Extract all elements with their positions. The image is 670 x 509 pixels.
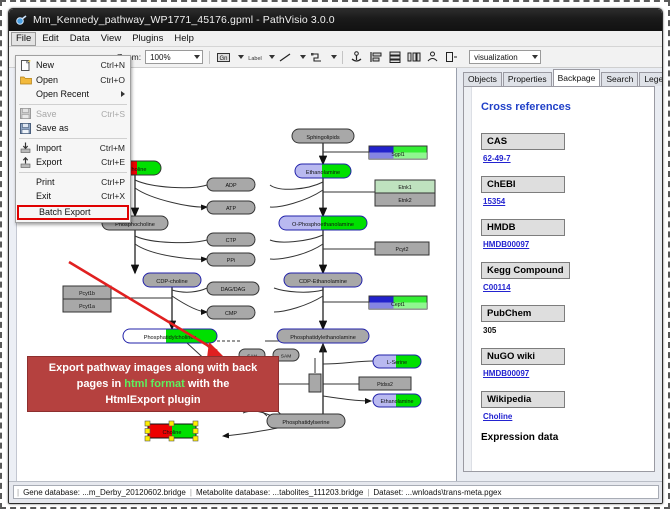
interaction-icon[interactable]	[309, 50, 324, 65]
status-bar: | Gene database: ...m_Derby_20120602.bri…	[9, 481, 663, 503]
tab-backpage[interactable]: Backpage	[553, 69, 601, 86]
svg-text:CTP: CTP	[226, 238, 237, 244]
menu-edit[interactable]: Edit	[37, 32, 63, 46]
svg-text:Pcyt2: Pcyt2	[396, 247, 409, 253]
svg-text:Ethanolamine: Ethanolamine	[306, 170, 340, 176]
tab-legend[interactable]: Legend	[639, 72, 663, 86]
menu-help[interactable]: Help	[169, 32, 199, 46]
callout-line-2-post: with the	[185, 378, 230, 390]
menu-item-label: Exit	[33, 191, 101, 201]
menu-view[interactable]: View	[96, 32, 126, 46]
callout-annotation: Export pathway images along with back pa…	[27, 356, 279, 412]
menu-item-accel: Ctrl+X	[101, 191, 130, 201]
menu-item-save: Save Ctrl+S	[16, 107, 130, 122]
svg-text:Phosphatidylserine: Phosphatidylserine	[282, 420, 329, 426]
tab-objects[interactable]: Objects	[463, 72, 502, 86]
svg-text:Choline: Choline	[163, 430, 182, 436]
menu-item-label: Open Recent	[33, 89, 121, 99]
svg-text:Pcyt1a: Pcyt1a	[79, 304, 95, 310]
svg-text:Etnk2: Etnk2	[398, 198, 411, 204]
menu-item-save-as[interactable]: Save as	[16, 121, 130, 136]
cross-references-title: Cross references	[481, 101, 647, 113]
import-icon	[18, 141, 33, 154]
svg-text:Ethanolamine: Ethanolamine	[381, 399, 414, 405]
svg-text:Ptdss2: Ptdss2	[377, 382, 393, 388]
new-document-icon	[18, 59, 33, 72]
svg-text:Cept1: Cept1	[391, 302, 405, 308]
svg-text:ATP: ATP	[226, 206, 236, 212]
xref-chebi: ChEBI 15354	[481, 174, 647, 206]
xref-label: HMDB	[481, 219, 565, 236]
order-icon[interactable]	[444, 50, 459, 65]
group-icon[interactable]	[425, 50, 440, 65]
side-panel-tabs[interactable]: Objects Properties Backpage Search Legen…	[457, 68, 663, 86]
visualization-value: visualization	[474, 53, 518, 62]
selected-node-choline: Choline	[145, 421, 198, 441]
menu-item-accel: Ctrl+O	[100, 75, 130, 85]
menu-item-exit[interactable]: Exit Ctrl+X	[16, 189, 130, 204]
menu-separator	[19, 104, 127, 105]
anchor-icon[interactable]	[349, 50, 364, 65]
xref-label: PubChem	[481, 305, 565, 322]
window-title: Mm_Kennedy_pathway_WP1771_45176.gpml - P…	[33, 14, 335, 26]
callout-line-3: HtmlExport plugin	[28, 392, 278, 408]
menu-item-label: Save as	[33, 123, 125, 133]
menu-separator	[19, 138, 127, 139]
svg-text:Phosphatidylcholines: Phosphatidylcholines	[144, 335, 197, 341]
svg-text:CMP: CMP	[225, 311, 237, 317]
menu-item-label: Export	[33, 157, 101, 167]
toolbar-separator	[209, 51, 210, 64]
xref-value: 305	[483, 326, 647, 335]
menu-item-accel: Ctrl+M	[100, 143, 130, 153]
label-dropdown-icon[interactable]	[266, 50, 274, 65]
svg-text:Phosphatidylethanolamine: Phosphatidylethanolamine	[290, 335, 356, 341]
xref-label: NuGO wiki	[481, 348, 565, 365]
status-bar-content: | Gene database: ...m_Derby_20120602.bri…	[13, 485, 659, 499]
callout-highlight: html format	[124, 378, 185, 390]
chevron-down-icon	[532, 55, 538, 59]
xref-label: ChEBI	[481, 176, 565, 193]
zoom-combobox[interactable]: 100%	[145, 50, 203, 64]
zoom-value: 100%	[150, 53, 170, 62]
menu-item-new[interactable]: New Ctrl+N	[16, 58, 130, 73]
menu-item-label: Print	[33, 177, 101, 187]
menu-item-export[interactable]: Export Ctrl+E	[16, 155, 130, 170]
svg-text:ADP: ADP	[225, 183, 236, 189]
svg-text:SAM: SAM	[281, 354, 291, 360]
submenu-arrow-icon	[121, 91, 125, 97]
status-metabolite-database: Metabolite database: ...tabolites_111203…	[192, 488, 367, 497]
svg-text:DAG/DAG: DAG/DAG	[221, 287, 246, 293]
capture-frame: Mm_Kennedy_pathway_WP1771_45176.gpml - P…	[0, 0, 670, 509]
menu-file[interactable]: File	[11, 32, 36, 46]
line-dropdown-icon[interactable]	[297, 50, 305, 65]
svg-text:PPi: PPi	[227, 258, 235, 264]
menu-item-print[interactable]: Print Ctrl+P	[16, 175, 130, 190]
status-gene-database: Gene database: ...m_Derby_20120602.bridg…	[19, 488, 190, 497]
menu-item-open-recent[interactable]: Open Recent	[16, 87, 130, 102]
svg-text:Pcyt1b: Pcyt1b	[79, 291, 95, 297]
tab-properties[interactable]: Properties	[503, 72, 552, 86]
menu-item-import[interactable]: Import Ctrl+M	[16, 141, 130, 156]
svg-text:Sphingolipids: Sphingolipids	[306, 135, 339, 141]
interaction-dropdown-icon[interactable]	[328, 50, 336, 65]
svg-text:CDP-choline: CDP-choline	[156, 279, 187, 285]
xref-link[interactable]: 62-49-7	[483, 154, 647, 163]
tab-search[interactable]: Search	[601, 72, 638, 86]
svg-text:O-Phosphoethanolamine: O-Phosphoethanolamine	[292, 222, 354, 228]
xref-link[interactable]: C00114	[483, 283, 647, 292]
callout-line-1: Export pathway images along with back	[28, 360, 278, 376]
xref-label: Kegg Compound	[481, 262, 570, 279]
backpage-content: Cross references CAS 62-49-7 ChEBI 15354…	[473, 87, 655, 471]
svg-text:CDP-Ethanolamine: CDP-Ethanolamine	[299, 279, 347, 285]
xref-kegg-compound: Kegg Compound C00114	[481, 260, 647, 292]
menu-bar[interactable]: File Edit Data View Plugins Help	[9, 31, 662, 47]
pathvisio-application-window: Mm_Kennedy_pathway_WP1771_45176.gpml - P…	[8, 8, 663, 504]
toolbar-separator	[342, 51, 343, 64]
save-disk-icon	[18, 107, 33, 120]
file-menu-dropdown[interactable]: New Ctrl+N Open Ctrl+O Open Recent Save …	[15, 55, 131, 223]
svg-text:Sgpl1: Sgpl1	[391, 152, 404, 158]
side-panel: Objects Properties Backpage Search Legen…	[457, 68, 663, 483]
menu-plugins[interactable]: Plugins	[127, 32, 168, 46]
geneproduct-dropdown-icon[interactable]	[235, 50, 243, 65]
svg-text:Phosphocholine: Phosphocholine	[115, 222, 155, 228]
geneproduct-icon[interactable]: Gn	[216, 50, 231, 65]
menu-data[interactable]: Data	[65, 32, 95, 46]
menu-item-label: Open	[33, 75, 100, 85]
chevron-down-icon	[194, 55, 200, 59]
menu-item-batch-export[interactable]: Batch Export	[17, 205, 129, 220]
svg-text:Label: Label	[248, 56, 261, 62]
xref-nugo-wiki: NuGO wiki HMDB00097	[481, 346, 647, 378]
svg-text:Etnk1: Etnk1	[398, 185, 411, 191]
export-icon	[18, 156, 33, 169]
menu-item-label: Save	[33, 109, 101, 119]
distribute-icon[interactable]	[406, 50, 421, 65]
xref-link[interactable]: Choline	[483, 412, 647, 421]
menu-item-label: New	[33, 60, 101, 70]
menu-item-accel: Ctrl+S	[101, 109, 130, 119]
xref-label: CAS	[481, 133, 565, 150]
callout-line-2: pages in html format with the	[28, 376, 278, 392]
xref-cas: CAS 62-49-7	[481, 131, 647, 163]
menu-item-accel: Ctrl+N	[101, 60, 130, 70]
open-folder-icon	[18, 73, 33, 86]
menu-item-accel: Ctrl+E	[101, 157, 130, 167]
backpage-panel: Cross references CAS 62-49-7 ChEBI 15354…	[463, 86, 655, 472]
xref-hmdb: HMDB HMDB00097	[481, 217, 647, 249]
menu-item-label: Import	[33, 143, 100, 153]
menu-item-open[interactable]: Open Ctrl+O	[16, 73, 130, 88]
svg-text:L-Serine: L-Serine	[387, 360, 407, 366]
svg-text:Gn: Gn	[220, 56, 228, 62]
xref-label: Wikipedia	[481, 391, 565, 408]
xref-link[interactable]: HMDB00097	[483, 369, 647, 378]
xref-wikipedia: Wikipedia Choline	[481, 389, 647, 421]
menu-item-accel: Ctrl+P	[101, 177, 130, 187]
title-bar: Mm_Kennedy_pathway_WP1771_45176.gpml - P…	[9, 9, 662, 31]
xref-link[interactable]: HMDB00097	[483, 240, 647, 249]
status-dataset: Dataset: ...wnloads\trans-meta.pgex	[369, 488, 505, 497]
expression-data-title: Expression data	[481, 432, 647, 443]
menu-separator	[19, 172, 127, 173]
save-as-icon	[18, 122, 33, 135]
xref-pubchem: PubChem 305	[481, 303, 647, 335]
xref-link[interactable]: 15354	[483, 197, 647, 206]
align-icon[interactable]	[368, 50, 383, 65]
callout-line-2-pre: pages in	[77, 378, 125, 390]
menu-item-label: Batch Export	[36, 207, 127, 217]
label-icon[interactable]: Label	[247, 50, 262, 65]
line-icon[interactable]	[278, 50, 293, 65]
stack-icon[interactable]	[387, 50, 402, 65]
pathvisio-icon	[15, 14, 28, 27]
visualization-combobox[interactable]: visualization	[469, 50, 541, 64]
backpage-scrollbar[interactable]	[464, 87, 472, 471]
